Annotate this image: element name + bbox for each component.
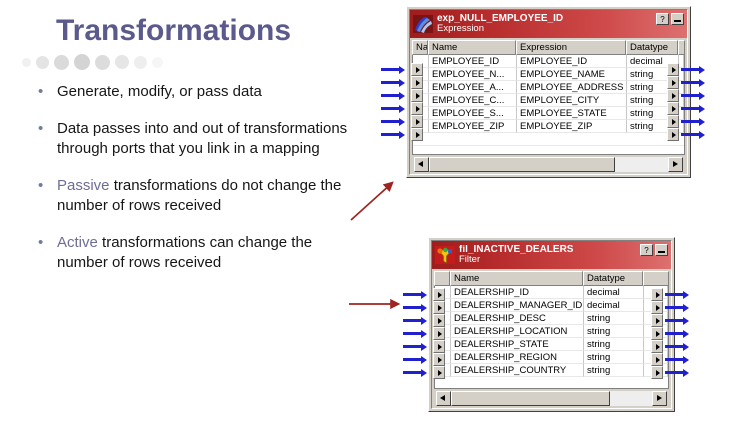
- cell-name[interactable]: EMPLOYEE_N...: [429, 68, 517, 81]
- table-row[interactable]: DEALERSHIP_MANAGER_IDdecimal: [435, 299, 668, 312]
- cell-datatype[interactable]: string: [584, 325, 644, 338]
- filter-window-inner: fil_INACTIVE_DEALERS Filter ? Name Datat…: [431, 240, 672, 409]
- port-link-arrow-icon: [403, 340, 427, 353]
- table-row-empty[interactable]: [435, 377, 668, 389]
- expression-window-controls: ?: [656, 13, 684, 25]
- filter-transformation-icon: [434, 244, 456, 266]
- port-link-arrow-icon: [381, 76, 405, 89]
- column-header-rowmark[interactable]: [434, 271, 450, 286]
- decorative-dot-row: [22, 54, 163, 70]
- page-title: Transformations: [56, 14, 291, 48]
- bullet-item: •Active transformations can change the n…: [34, 233, 364, 273]
- table-row-empty[interactable]: [413, 133, 684, 146]
- empty-cell: [413, 146, 684, 155]
- port-selector-icon[interactable]: [651, 301, 663, 314]
- cell-name[interactable]: DEALERSHIP_STATE: [451, 338, 584, 351]
- port-selector-icon[interactable]: [411, 89, 423, 102]
- bullet-body: Data passes into and out of transformati…: [57, 120, 347, 157]
- cell-name[interactable]: EMPLOYEE_ZIP: [429, 120, 517, 133]
- table-row[interactable]: EMPLOYEE_N...EMPLOYEE_NAMEstring: [413, 68, 684, 81]
- filter-window-subtitle: Filter: [459, 255, 573, 265]
- port-link-arrow-icon: [665, 327, 689, 340]
- port-selector-icon[interactable]: [433, 301, 445, 314]
- empty-cell: [413, 133, 684, 146]
- port-selector-icon[interactable]: [433, 314, 445, 327]
- filter-transformation-window[interactable]: fil_INACTIVE_DEALERS Filter ? Name Datat…: [428, 237, 675, 412]
- bullet-text: Passive transformations do not change th…: [57, 176, 364, 216]
- column-header-datatype[interactable]: Datatype: [626, 40, 678, 55]
- cell-datatype[interactable]: string: [584, 364, 644, 377]
- cell-datatype[interactable]: string: [584, 351, 644, 364]
- scroll-left-arrow-icon[interactable]: [414, 157, 429, 172]
- expression-window-labels: exp_NULL_EMPLOYEE_ID Expression: [437, 14, 563, 34]
- port-link-arrow-icon: [403, 353, 427, 366]
- decorative-dot: [115, 55, 129, 69]
- filter-horizontal-scrollbar[interactable]: [436, 391, 667, 406]
- filter-input-port-gutter[interactable]: [433, 288, 445, 379]
- table-row[interactable]: EMPLOYEE_ZIPEMPLOYEE_ZIPstring: [413, 120, 684, 133]
- scroll-track[interactable]: [429, 157, 668, 172]
- expression-grid-header: Name Name Expression Datatype: [412, 40, 685, 55]
- expression-horizontal-scrollbar[interactable]: [414, 157, 683, 172]
- table-row-empty[interactable]: [413, 146, 684, 155]
- port-link-arrow-icon: [665, 366, 689, 379]
- port-selector-icon[interactable]: [433, 327, 445, 340]
- port-selector-icon[interactable]: [411, 128, 423, 141]
- scroll-track[interactable]: [451, 391, 652, 406]
- port-selector-icon[interactable]: [433, 340, 445, 353]
- column-header-name[interactable]: Name: [450, 271, 583, 286]
- cell-expression[interactable]: EMPLOYEE_STATE: [517, 107, 627, 120]
- decorative-dot: [95, 55, 110, 70]
- annotation-arrow-to-filter: [348, 297, 406, 311]
- expression-input-port-gutter[interactable]: [411, 63, 423, 141]
- bullet-item: •Data passes into and out of transformat…: [34, 119, 364, 159]
- bullet-body: Generate, modify, or pass data: [57, 83, 262, 100]
- bullet-list: •Generate, modify, or pass data•Data pas…: [34, 82, 364, 290]
- cell-name[interactable]: DEALERSHIP_LOCATION: [451, 325, 584, 338]
- table-row[interactable]: DEALERSHIP_COUNTRYstring: [435, 364, 668, 377]
- cell-name[interactable]: DEALERSHIP_ID: [451, 286, 584, 299]
- filter-window-titlebar[interactable]: fil_INACTIVE_DEALERS Filter ?: [432, 241, 671, 269]
- filter-port-grid: Name Datatype DEALERSHIP_IDdecimalDEALER…: [432, 269, 671, 408]
- table-row[interactable]: DEALERSHIP_DESCstring: [435, 312, 668, 325]
- table-row[interactable]: EMPLOYEE_C...EMPLOYEE_CITYstring: [413, 94, 684, 107]
- port-selector-icon[interactable]: [433, 366, 445, 379]
- decorative-dot: [152, 57, 163, 68]
- port-selector-icon[interactable]: [667, 63, 679, 76]
- port-link-arrow-icon: [665, 314, 689, 327]
- expression-transformation-icon: [412, 13, 434, 35]
- cell-name[interactable]: EMPLOYEE_ID: [429, 55, 517, 68]
- decorative-dot: [134, 56, 147, 69]
- port-link-arrow-icon: [681, 128, 705, 141]
- cell-expression[interactable]: EMPLOYEE_ZIP: [517, 120, 627, 133]
- cell-datatype[interactable]: string: [584, 312, 644, 325]
- cell-name[interactable]: DEALERSHIP_DESC: [451, 312, 584, 325]
- port-link-arrow-icon: [665, 288, 689, 301]
- port-link-arrow-icon: [665, 340, 689, 353]
- port-selector-icon[interactable]: [667, 76, 679, 89]
- scroll-right-arrow-icon[interactable]: [668, 157, 683, 172]
- port-link-arrow-icon: [403, 301, 427, 314]
- port-selector-icon[interactable]: [411, 63, 423, 76]
- decorative-dot: [36, 56, 49, 69]
- port-link-arrow-icon: [403, 366, 427, 379]
- port-selector-icon[interactable]: [651, 340, 663, 353]
- help-button[interactable]: ?: [656, 13, 669, 25]
- table-row[interactable]: DEALERSHIP_STATEstring: [435, 338, 668, 351]
- cell-datatype[interactable]: string: [584, 338, 644, 351]
- port-link-arrow-icon: [403, 327, 427, 340]
- table-row[interactable]: EMPLOYEE_IDEMPLOYEE_IDdecimal: [413, 55, 684, 68]
- port-link-arrow-icon: [381, 102, 405, 115]
- port-link-arrow-icon: [681, 89, 705, 102]
- cell-expression[interactable]: EMPLOYEE_ID: [517, 55, 627, 68]
- port-selector-icon[interactable]: [651, 366, 663, 379]
- empty-cell: [435, 377, 668, 389]
- cell-datatype[interactable]: decimal: [584, 299, 644, 312]
- expression-port-grid: Name Name Expression Datatype EMPLOYEE_I…: [410, 38, 687, 174]
- scroll-thumb[interactable]: [429, 157, 615, 172]
- cell-name[interactable]: DEALERSHIP_MANAGER_ID: [451, 299, 584, 312]
- cell-name[interactable]: DEALERSHIP_REGION: [451, 351, 584, 364]
- port-selector-icon[interactable]: [411, 76, 423, 89]
- bullet-marker-icon: •: [34, 233, 57, 273]
- bullet-text: Active transformations can change the nu…: [57, 233, 364, 273]
- expression-window-inner: exp_NULL_EMPLOYEE_ID Expression ? Name N…: [409, 9, 688, 175]
- filter-window-labels: fil_INACTIVE_DEALERS Filter: [459, 245, 573, 265]
- cell-name[interactable]: EMPLOYEE_C...: [429, 94, 517, 107]
- port-link-arrow-icon: [381, 89, 405, 102]
- expression-window-subtitle: Expression: [437, 24, 563, 34]
- table-row[interactable]: DEALERSHIP_REGIONstring: [435, 351, 668, 364]
- filter-grid-body: DEALERSHIP_IDdecimalDEALERSHIP_MANAGER_I…: [434, 286, 669, 389]
- port-selector-icon[interactable]: [667, 89, 679, 102]
- column-header-name-label[interactable]: Name: [428, 40, 516, 55]
- bullet-item: •Generate, modify, or pass data: [34, 82, 364, 102]
- column-header-spacer: [678, 40, 685, 55]
- table-row[interactable]: DEALERSHIP_IDdecimal: [435, 286, 668, 299]
- column-header-expression[interactable]: Expression: [516, 40, 626, 55]
- scroll-thumb[interactable]: [451, 391, 610, 406]
- cell-datatype[interactable]: decimal: [584, 286, 644, 299]
- filter-output-port-gutter[interactable]: [651, 288, 663, 379]
- port-selector-icon[interactable]: [651, 327, 663, 340]
- help-button[interactable]: ?: [640, 244, 653, 256]
- bullet-keyword: Passive: [57, 177, 110, 194]
- cell-name[interactable]: EMPLOYEE_A...: [429, 81, 517, 94]
- bullet-text: Generate, modify, or pass data: [57, 82, 262, 102]
- cell-expression[interactable]: EMPLOYEE_NAME: [517, 68, 627, 81]
- port-link-arrow-icon: [681, 102, 705, 115]
- bullet-keyword: Active: [57, 234, 98, 251]
- bullet-marker-icon: •: [34, 119, 57, 159]
- column-header-spacer: [643, 271, 669, 286]
- decorative-dot: [74, 54, 90, 70]
- port-selector-icon[interactable]: [433, 288, 445, 301]
- expression-window-titlebar[interactable]: exp_NULL_EMPLOYEE_ID Expression ?: [410, 10, 687, 38]
- minimize-button[interactable]: [671, 13, 684, 25]
- expression-output-port-gutter[interactable]: [667, 63, 679, 141]
- port-link-arrow-icon: [665, 301, 689, 314]
- port-link-arrow-icon: [403, 314, 427, 327]
- port-link-arrow-icon: [681, 76, 705, 89]
- port-selector-icon[interactable]: [651, 314, 663, 327]
- scroll-left-arrow-icon[interactable]: [436, 391, 451, 406]
- port-selector-icon[interactable]: [651, 353, 663, 366]
- port-link-arrow-icon: [681, 63, 705, 76]
- port-selector-icon[interactable]: [411, 115, 423, 128]
- column-header-name[interactable]: Name: [412, 40, 428, 55]
- port-link-arrow-icon: [681, 115, 705, 128]
- cell-expression[interactable]: EMPLOYEE_CITY: [517, 94, 627, 107]
- port-selector-icon[interactable]: [667, 102, 679, 115]
- port-selector-icon[interactable]: [651, 288, 663, 301]
- filter-grid-header: Name Datatype: [434, 271, 669, 286]
- bullet-marker-icon: •: [34, 82, 57, 102]
- port-link-arrow-icon: [403, 288, 427, 301]
- bullet-item: •Passive transformations do not change t…: [34, 176, 364, 216]
- cell-name[interactable]: EMPLOYEE_S...: [429, 107, 517, 120]
- bullet-marker-icon: •: [34, 176, 57, 216]
- minimize-button[interactable]: [655, 244, 668, 256]
- port-selector-icon[interactable]: [411, 102, 423, 115]
- cell-name[interactable]: DEALERSHIP_COUNTRY: [451, 364, 584, 377]
- column-header-datatype[interactable]: Datatype: [583, 271, 643, 286]
- port-selector-icon[interactable]: [667, 128, 679, 141]
- table-row[interactable]: DEALERSHIP_LOCATIONstring: [435, 325, 668, 338]
- decorative-dot: [22, 58, 31, 67]
- port-selector-icon[interactable]: [433, 353, 445, 366]
- cell-expression[interactable]: EMPLOYEE_ADDRESS: [517, 81, 627, 94]
- decorative-dot: [54, 55, 69, 70]
- table-row[interactable]: EMPLOYEE_S...EMPLOYEE_STATEstring: [413, 107, 684, 120]
- scroll-right-arrow-icon[interactable]: [652, 391, 667, 406]
- annotation-arrow-to-expression: [348, 176, 400, 224]
- port-link-arrow-icon: [381, 63, 405, 76]
- table-row[interactable]: EMPLOYEE_A...EMPLOYEE_ADDRESSstring: [413, 81, 684, 94]
- port-selector-icon[interactable]: [667, 115, 679, 128]
- filter-window-controls: ?: [640, 244, 668, 256]
- expression-grid-body: EMPLOYEE_IDEMPLOYEE_IDdecimalEMPLOYEE_N.…: [412, 55, 685, 155]
- port-link-arrow-icon: [381, 128, 405, 141]
- port-link-arrow-icon: [665, 353, 689, 366]
- expression-transformation-window[interactable]: exp_NULL_EMPLOYEE_ID Expression ? Name N…: [406, 6, 691, 178]
- port-link-arrow-icon: [381, 115, 405, 128]
- bullet-text: Data passes into and out of transformati…: [57, 119, 364, 159]
